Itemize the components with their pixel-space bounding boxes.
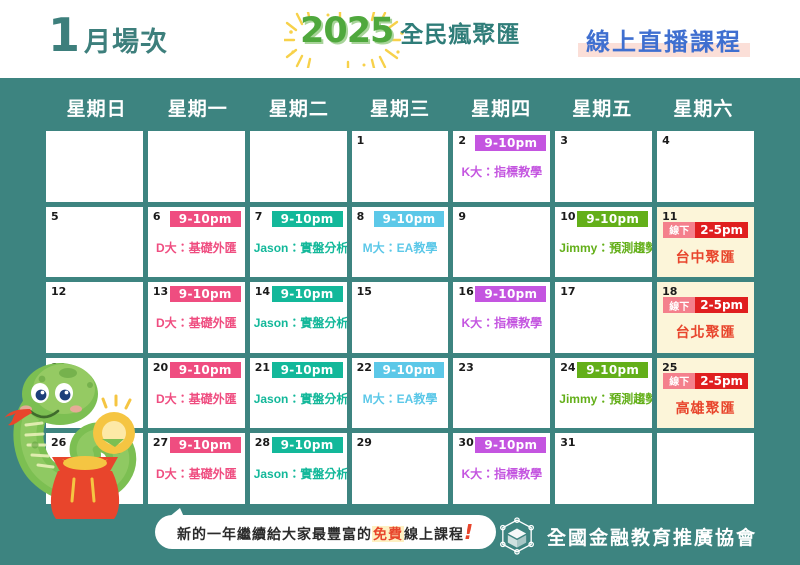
calendar-cell-day-10[interactable]: 109-10pmJimmy：預測趨勢 — [555, 207, 652, 278]
event-title: D大：基礎外匯 — [152, 239, 241, 256]
day-number: 25 — [662, 361, 677, 374]
calendar-cell-day-25[interactable]: 25線下2-5pm高雄聚匯 — [657, 358, 754, 429]
weekday-header-1: 星期一 — [147, 88, 248, 126]
offline-event-badges: 線下2-5pm — [663, 373, 748, 389]
year-badge: 2025 全民瘋聚匯 — [300, 14, 520, 49]
day-number: 10 — [560, 210, 575, 223]
calendar-cell-day-27[interactable]: 279-10pmD大：基礎外匯 — [148, 433, 245, 504]
page-header: 1 月場次 — [0, 0, 800, 78]
offline-tag: 線下 — [663, 373, 695, 389]
event-time-badge: 9-10pm — [170, 437, 241, 453]
calendar-cell-day-8[interactable]: 89-10pmM大：EA教學 — [352, 207, 449, 278]
cube-network-logo-icon — [497, 516, 537, 556]
offline-time-badge: 2-5pm — [695, 297, 748, 313]
brand-name: 全國金融教育推廣協會 — [547, 523, 757, 550]
event-time-badge: 9-10pm — [577, 362, 648, 378]
day-number: 5 — [51, 210, 59, 223]
event-time-badge: 9-10pm — [170, 286, 241, 302]
event-time-badge: 9-10pm — [272, 362, 343, 378]
day-number: 17 — [560, 285, 575, 298]
event-title: D大：基礎外匯 — [152, 465, 241, 482]
year-number: 2025 — [300, 11, 393, 51]
offline-event-badges: 線下2-5pm — [663, 297, 748, 313]
weekday-header-2: 星期二 — [248, 88, 349, 126]
day-number: 29 — [357, 436, 372, 449]
offline-tag: 線下 — [663, 222, 695, 238]
calendar-cell-day-26[interactable]: 26 — [46, 433, 143, 504]
event-title: M大：EA教學 — [356, 390, 445, 407]
offline-event-title: 台北聚匯 — [661, 322, 750, 342]
calendar-cell-day-2[interactable]: 29-10pmK大：指標教學 — [453, 131, 550, 202]
calendar-cell-empty — [148, 131, 245, 202]
event-time-badge: 9-10pm — [272, 437, 343, 453]
calendar-cell-day-14[interactable]: 149-10pmJason：實盤分析 — [250, 282, 347, 353]
event-title: D大：基礎外匯 — [152, 390, 241, 407]
event-time-badge: 9-10pm — [374, 211, 445, 227]
event-time-badge: 9-10pm — [577, 211, 648, 227]
calendar-grid: 129-10pmK大：指標教學34569-10pmD大：基礎外匯79-10pmJ… — [46, 131, 754, 504]
month-number: 1 — [48, 12, 80, 58]
calendar-cell-empty — [250, 131, 347, 202]
calendar-cell-day-23[interactable]: 23 — [453, 358, 550, 429]
event-title: Jason：實盤分析 — [254, 314, 343, 331]
day-number: 28 — [255, 436, 270, 449]
day-number: 3 — [560, 134, 568, 147]
weekday-header-4: 星期四 — [451, 88, 552, 126]
promo-text-highlight: 免費 — [372, 526, 404, 542]
offline-time-badge: 2-5pm — [695, 373, 748, 389]
offline-event-badges: 線下2-5pm — [663, 222, 748, 238]
calendar-cell-day-12[interactable]: 12 — [46, 282, 143, 353]
event-title: M大：EA教學 — [356, 239, 445, 256]
event-title: Jason：實盤分析 — [254, 239, 343, 256]
day-number: 4 — [662, 134, 670, 147]
offline-event-title: 台中聚匯 — [661, 247, 750, 267]
offline-tag: 線下 — [663, 297, 695, 313]
promo-text-pre: 新的一年繼續給大家最豐富的 — [177, 526, 372, 542]
event-time-badge: 9-10pm — [272, 286, 343, 302]
calendar-cell-day-6[interactable]: 69-10pmD大：基礎外匯 — [148, 207, 245, 278]
month-title: 1 月場次 — [48, 12, 168, 59]
event-time-badge: 9-10pm — [475, 437, 546, 453]
calendar-cell-day-29[interactable]: 29 — [352, 433, 449, 504]
day-number: 30 — [458, 436, 473, 449]
calendar-cell-day-30[interactable]: 309-10pmK大：指標教學 — [453, 433, 550, 504]
event-title: K大：指標教學 — [457, 163, 546, 180]
day-number: 31 — [560, 436, 575, 449]
promo-text-post: 線上課程 — [404, 526, 464, 542]
event-title: Jason：實盤分析 — [254, 390, 343, 407]
weekday-header-5: 星期五 — [552, 88, 653, 126]
year-subtitle: 全民瘋聚匯 — [400, 15, 520, 49]
event-title: K大：指標教學 — [457, 465, 546, 482]
calendar-cell-day-20[interactable]: 209-10pmD大：基礎外匯 — [148, 358, 245, 429]
offline-event-title: 高雄聚匯 — [661, 398, 750, 418]
promo-speech-bubble: 新的一年繼續給大家最豐富的免費線上課程! — [155, 515, 496, 549]
event-title: Jimmy：預測趨勢 — [559, 239, 648, 256]
day-number: 20 — [153, 361, 168, 374]
event-title: Jimmy：預測趨勢 — [559, 390, 648, 407]
calendar-cell-day-18[interactable]: 18線下2-5pm台北聚匯 — [657, 282, 754, 353]
live-course-title-wrap: 線上直播課程 — [578, 20, 750, 60]
calendar-cell-day-9[interactable]: 9 — [453, 207, 550, 278]
day-number: 16 — [458, 285, 473, 298]
event-time-badge: 9-10pm — [170, 362, 241, 378]
calendar-cell-day-28[interactable]: 289-10pmJason：實盤分析 — [250, 433, 347, 504]
day-number: 22 — [357, 361, 372, 374]
event-time-badge: 9-10pm — [272, 211, 343, 227]
event-title: K大：指標教學 — [457, 314, 546, 331]
calendar-board: 星期日星期一星期二星期三星期四星期五星期六 129-10pmK大：指標教學345… — [0, 78, 800, 565]
calendar-cell-day-1[interactable]: 1 — [352, 131, 449, 202]
promo-text: 新的一年繼續給大家最豐富的免費線上課程! — [177, 520, 474, 544]
brand-footer: 全國金融教育推廣協會 — [497, 516, 757, 556]
event-time-badge: 9-10pm — [374, 362, 445, 378]
calendar-cell-day-16[interactable]: 169-10pmK大：指標教學 — [453, 282, 550, 353]
weekday-header-3: 星期三 — [349, 88, 450, 126]
event-time-badge: 9-10pm — [170, 211, 241, 227]
offline-time-badge: 2-5pm — [695, 222, 748, 238]
calendar-cell-day-31[interactable]: 31 — [555, 433, 652, 504]
day-number: 9 — [458, 210, 466, 223]
calendar-cell-day-24[interactable]: 249-10pmJimmy：預測趨勢 — [555, 358, 652, 429]
day-number: 2 — [458, 134, 466, 147]
weekday-header-6: 星期六 — [653, 88, 754, 126]
event-time-badge: 9-10pm — [475, 135, 546, 151]
day-number: 1 — [357, 134, 365, 147]
weekday-header-row: 星期日星期一星期二星期三星期四星期五星期六 — [46, 88, 754, 126]
calendar-cell-day-22[interactable]: 229-10pmM大：EA教學 — [352, 358, 449, 429]
day-number: 15 — [357, 285, 372, 298]
day-number: 8 — [357, 210, 365, 223]
calendar-cell-day-19[interactable]: 19 — [46, 358, 143, 429]
day-number: 19 — [51, 361, 66, 374]
calendar-cell-day-11[interactable]: 11線下2-5pm台中聚匯 — [657, 207, 754, 278]
event-title: Jason：實盤分析 — [254, 465, 343, 482]
day-number: 27 — [153, 436, 168, 449]
month-suffix: 月場次 — [84, 20, 168, 59]
event-title: D大：基礎外匯 — [152, 314, 241, 331]
day-number: 24 — [560, 361, 575, 374]
calendar-cell-day-5[interactable]: 5 — [46, 207, 143, 278]
day-number: 13 — [153, 285, 168, 298]
calendar-cell-empty — [46, 131, 143, 202]
event-time-badge: 9-10pm — [475, 286, 546, 302]
calendar-cell-day-17[interactable]: 17 — [555, 282, 652, 353]
day-number: 11 — [662, 210, 677, 223]
day-number: 6 — [153, 210, 161, 223]
calendar-cell-empty[interactable] — [657, 433, 754, 504]
day-number: 18 — [662, 285, 677, 298]
day-number: 7 — [255, 210, 263, 223]
weekday-header-0: 星期日 — [46, 88, 147, 126]
day-number: 26 — [51, 436, 66, 449]
calendar-cell-day-21[interactable]: 219-10pmJason：實盤分析 — [250, 358, 347, 429]
calendar-cell-day-13[interactable]: 139-10pmD大：基礎外匯 — [148, 282, 245, 353]
promo-exclamation: ! — [464, 520, 474, 544]
calendar-cell-day-15[interactable]: 15 — [352, 282, 449, 353]
day-number: 21 — [255, 361, 270, 374]
calendar-cell-day-7[interactable]: 79-10pmJason：實盤分析 — [250, 207, 347, 278]
calendar-cell-day-4[interactable]: 4 — [657, 131, 754, 202]
calendar-cell-day-3[interactable]: 3 — [555, 131, 652, 202]
day-number: 12 — [51, 285, 66, 298]
day-number: 23 — [458, 361, 473, 374]
day-number: 14 — [255, 285, 270, 298]
live-course-title: 線上直播課程 — [586, 29, 742, 56]
